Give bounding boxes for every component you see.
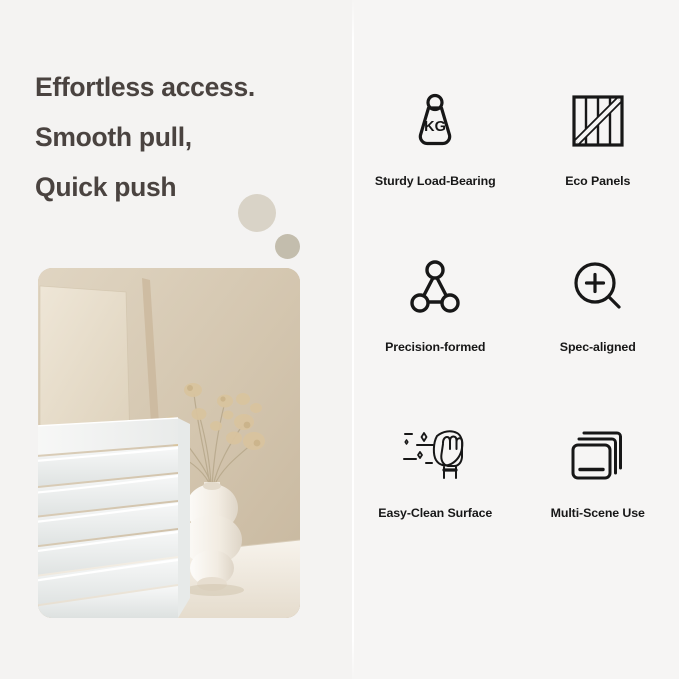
stacked-squares-icon <box>561 416 635 490</box>
feature-item-eco-panels: Eco Panels <box>517 84 679 188</box>
feature-label: Precision-formed <box>385 340 485 354</box>
headline-line-1: Effortless access. <box>35 62 335 112</box>
tray-organizer-illustration <box>38 418 190 618</box>
product-photo-illustration <box>38 268 300 618</box>
decorative-circle-large <box>238 194 276 232</box>
headline-line-3: Quick push <box>35 162 335 212</box>
weight-kg-icon: KG <box>398 84 472 158</box>
page-title: Effortless access. Smooth pull, Quick pu… <box>35 62 335 212</box>
feature-item-sturdy-load-bearing: KG Sturdy Load-Bearing <box>354 84 517 188</box>
headline-line-2: Smooth pull, <box>35 112 335 162</box>
feature-item-precision-formed: Precision-formed <box>354 250 517 354</box>
feature-item-easy-clean-surface: Easy-Clean Surface <box>354 416 517 520</box>
feature-grid: KG Sturdy Load-Bearing Eco Panels <box>354 84 679 520</box>
feature-item-multi-scene-use: Multi-Scene Use <box>517 416 679 520</box>
product-photo <box>38 268 300 618</box>
magnifier-plus-icon <box>561 250 635 324</box>
triangle-nodes-icon <box>398 250 472 324</box>
svg-text:KG: KG <box>424 119 446 135</box>
feature-item-spec-aligned: Spec-aligned <box>517 250 679 354</box>
wood-panel-icon <box>561 84 635 158</box>
feature-label: Easy-Clean Surface <box>378 506 492 520</box>
feature-label: Spec-aligned <box>560 340 636 354</box>
feature-label: Multi-Scene Use <box>551 506 645 520</box>
hand-wipe-icon <box>398 416 472 490</box>
feature-label: Sturdy Load-Bearing <box>375 174 496 188</box>
decorative-circle-small <box>275 234 300 259</box>
product-infographic: Effortless access. Smooth pull, Quick pu… <box>0 0 679 679</box>
feature-label: Eco Panels <box>565 174 630 188</box>
left-panel: Effortless access. Smooth pull, Quick pu… <box>0 0 352 679</box>
right-panel: KG Sturdy Load-Bearing Eco Panels <box>354 0 679 679</box>
